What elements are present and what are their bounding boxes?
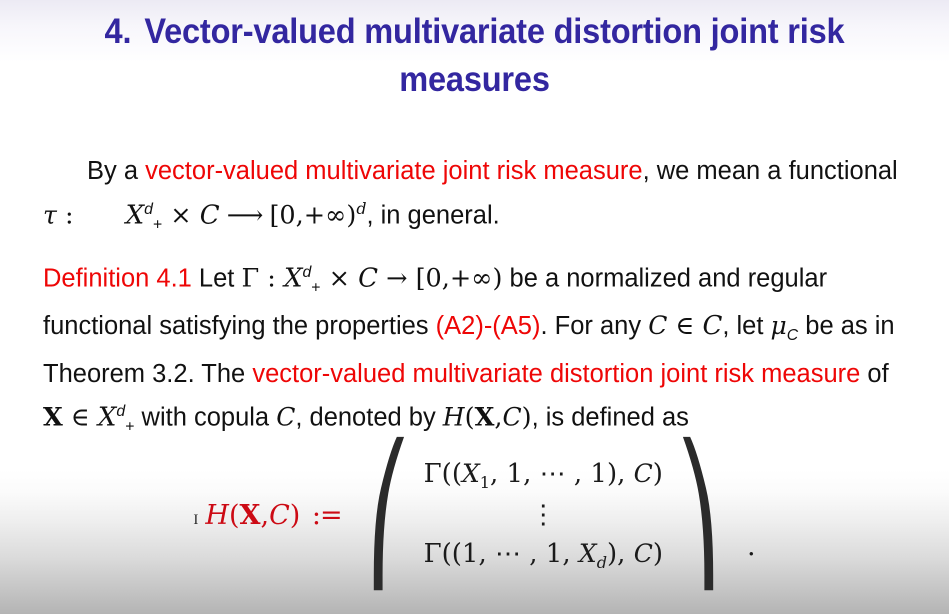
matrix-row-last-var: X (579, 539, 597, 568)
math-tau: τ (43, 201, 57, 230)
definition-line2-tail: . For any (540, 312, 641, 340)
script-x-1-sup: d (144, 201, 153, 218)
math-codomain-1: [0,+∞) (269, 201, 356, 231)
matrix-row-first-var-sub: 1 (480, 473, 490, 492)
script-c-2: C (358, 263, 378, 293)
script-x-4-sup: d (116, 403, 125, 420)
matrix-row-last-mid: ), (607, 539, 634, 569)
math-colon-2: : (259, 263, 284, 293)
intro-line2-prefix: a functional (767, 157, 897, 185)
script-x-2-sub: + (311, 279, 320, 296)
title-number: 4. (105, 12, 132, 51)
matrix-row-first-mid: , 1, ⋯ , 1), (490, 459, 634, 489)
math-times-1: × (162, 201, 200, 231)
matrix-row-last-close: ) (653, 539, 663, 569)
properties-ref: (A2)-(A5) (436, 312, 541, 340)
math-close-5: ) (522, 403, 532, 433)
script-c-1: C (200, 201, 220, 231)
matrix-row-first-var: X (462, 459, 480, 488)
matrix-left-paren: ⎛ (366, 455, 412, 576)
math-arrow-2: → (378, 263, 416, 293)
math-codomain-2: [0,+∞) (416, 263, 503, 293)
script-x-1: X (126, 201, 145, 231)
slide-canvas: 4.Vector-valued multivariate distortion … (0, 0, 949, 614)
math-bold-x-5: X (475, 403, 495, 433)
matrix-right-paren: ⎞ (675, 455, 721, 576)
math-c-5: C (276, 403, 295, 432)
intro-lead: By a (87, 157, 145, 185)
matrix-row-last: Γ((1, ⋯ , 1, Xd), C) (424, 535, 663, 576)
matrix-row-last-open: ((1, ⋯ , 1, (442, 539, 579, 569)
math-colon-1: : (57, 201, 82, 231)
title-line-2: measures (399, 60, 550, 99)
script-x-2-sup: d (303, 264, 312, 281)
matrix-row-first-gamma: Γ (424, 459, 442, 489)
intro-after-emphasis: , we mean (643, 157, 761, 185)
definition-line5-a: , denoted by (295, 404, 442, 432)
matrix-row-last-gamma: Γ (424, 539, 442, 569)
text-cursor-icon: I (193, 512, 198, 529)
intro-emphasis: vector-valued multivariate joint risk me… (145, 157, 642, 185)
matrix-row-last-copula: C (634, 539, 653, 568)
definition-normalized: be a normalized and (502, 264, 740, 292)
formula-left-hand-side: H(X,C) := (205, 500, 341, 531)
math-domain-2: Xd+ (284, 254, 321, 308)
matrix-row-first-copula: C (634, 459, 653, 488)
definition-emphasis-b: multivariate distortion joint risk measu… (412, 360, 860, 388)
script-x-4: X (98, 403, 117, 433)
formula-bold-x: X (240, 500, 261, 531)
display-formula: I H(X,C) := ⎛ Γ((X1, 1, ⋯ , 1), C) ⋮ Γ((… (0, 455, 949, 576)
matrix-rows: Γ((X1, 1, ⋯ , 1), C) ⋮ Γ((1, ⋯ , 1, Xd),… (412, 455, 675, 576)
page-title: 4.Vector-valued multivariate distortion … (33, 8, 916, 104)
definition-paragraph: Definition 4.1 Let Γ : Xd+ × C → [0,+∞) … (43, 254, 909, 447)
math-mu: μ (771, 311, 787, 340)
definition-label: Definition 4.1 (43, 264, 192, 292)
math-in-4: ∈ (63, 403, 98, 433)
matrix-row-first-close: ) (653, 459, 663, 489)
formula-c: C (269, 500, 290, 531)
formula-open-paren: ( (229, 500, 240, 531)
math-c-3: C (648, 311, 667, 340)
definition-line3-a: , let (722, 312, 770, 340)
math-codomain-1-sup: d (356, 199, 366, 218)
math-domain-1: Xd+ (82, 191, 163, 245)
math-in-3: ∈ (667, 311, 702, 341)
matrix-row-last-var-sub: d (597, 553, 607, 572)
math-arrow-1: ⟶ (220, 201, 270, 231)
matrix-row-first: Γ((X1, 1, ⋯ , 1), C) (424, 455, 663, 496)
math-c2-5: C (502, 403, 521, 432)
intro-line2-suffix: , in general. (366, 202, 499, 230)
definition-line4-tail: with copula (134, 404, 269, 432)
formula-matrix: ⎛ Γ((X1, 1, ⋯ , 1), C) ⋮ Γ((1, ⋯ , 1, Xd… (348, 455, 739, 576)
definition-line4-of: of (860, 360, 888, 388)
definition-line5-b: , is defined as (532, 404, 689, 432)
formula-close-paren: ) (290, 500, 301, 531)
definition-let: Let (192, 264, 242, 292)
definition-emphasis-a: vector-valued (252, 360, 405, 388)
math-gamma: Γ (241, 263, 259, 293)
title-line-1: Vector-valued multivariate distortion jo… (144, 12, 844, 51)
math-bold-x-4: X (43, 403, 63, 433)
intro-paragraph: By a vector-valued multivariate joint ri… (43, 152, 909, 245)
math-times-2: × (321, 263, 359, 293)
script-x-1-sub: + (153, 217, 162, 234)
script-c-3: C (702, 311, 722, 341)
formula-trailing-period: . (747, 531, 756, 562)
slide-body: By a vector-valued multivariate joint ri… (43, 152, 909, 456)
script-x-4-sub: + (125, 419, 134, 436)
matrix-vertical-dots: ⋮ (530, 496, 556, 536)
formula-h: H (205, 500, 229, 531)
matrix-row-first-open: (( (442, 459, 462, 489)
formula-comma: , (260, 500, 269, 531)
math-mu-sub: C (787, 327, 798, 344)
math-open-5: ( (465, 403, 475, 433)
script-x-2: X (284, 263, 303, 293)
math-h-5: H (443, 403, 465, 432)
math-domain-4: Xd+ (98, 393, 135, 447)
formula-assign-operator: := (304, 500, 341, 531)
